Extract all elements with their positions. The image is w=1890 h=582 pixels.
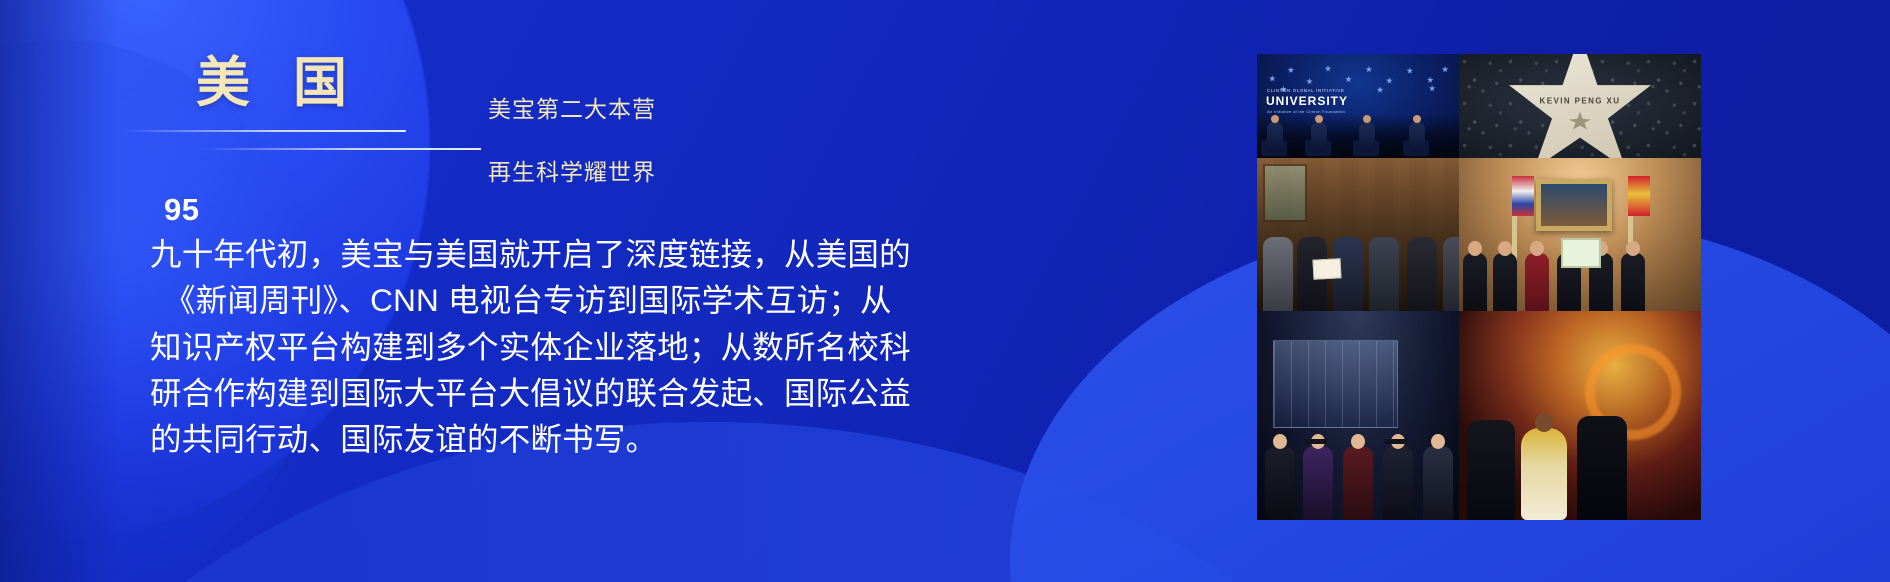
cgi-stage-foreground (1257, 114, 1459, 158)
slide-root: 美 国 美宝第二大本营 再生科学耀世界 95 九十年代初，美宝与美国就开启了深度… (0, 0, 1890, 582)
award-plaque (1561, 238, 1601, 268)
title-rule-upper (121, 130, 406, 132)
section-number: 95 (164, 193, 940, 227)
window-decor (1263, 164, 1307, 222)
photo-clinton-global-initiative: CLINTON GLOBAL INITIATIVE UNIVERSITY An … (1257, 54, 1459, 158)
body-block: 95 九十年代初，美宝与美国就开启了深度链接，从美国的 《新闻周刊》、CNN 电… (150, 193, 940, 463)
flag-right (1628, 176, 1650, 216)
cgi-top-caption: CLINTON GLOBAL INITIATIVE (1267, 88, 1344, 93)
header: 美 国 美宝第二大本营 再生科学耀世界 (196, 56, 976, 166)
body-line-4: 研合作构建到国际大平台大倡议的联合发起、国际公益 (150, 370, 940, 416)
subtitle-line-2: 再生科学耀世界 (488, 157, 656, 189)
photo-collage: CLINTON GLOBAL INITIATIVE UNIVERSITY An … (1257, 54, 1701, 520)
title-rule-lower (201, 148, 481, 150)
cgi-sub-caption: An Initiative of the Clinton Foundation (1267, 109, 1345, 114)
cgi-main-caption: UNIVERSITY (1266, 94, 1348, 108)
body-line-1: 九十年代初，美宝与美国就开启了深度链接，从美国的 (150, 231, 940, 277)
photo-red-carpet-gala (1459, 311, 1701, 520)
subtitle-line-1: 美宝第二大本营 (488, 94, 656, 126)
star-honoree-name: KEVIN PENG XU (1540, 96, 1621, 105)
photo-certificate-presentation (1257, 158, 1459, 311)
photo-graduation-hall (1257, 311, 1459, 520)
body-line-3: 知识产权平台构建到多个实体企业落地；从数所名校科 (150, 324, 940, 370)
gala-gown (1521, 428, 1567, 520)
glass-wall-decor (1273, 340, 1398, 428)
certificate-document (1312, 258, 1341, 279)
photo-flag-award-ceremony (1459, 158, 1701, 311)
background-left-vignette (0, 0, 120, 582)
flag-left (1512, 176, 1534, 216)
body-line-2: 《新闻周刊》、CNN 电视台专访到国际学术互访；从 (150, 277, 940, 323)
body-paragraph: 九十年代初，美宝与美国就开启了深度链接，从美国的 《新闻周刊》、CNN 电视台专… (150, 231, 940, 462)
body-line-5: 的共同行动、国际友谊的不断书写。 (150, 416, 940, 462)
photo-walk-of-fame-star: KEVIN PENG XU (1459, 54, 1701, 158)
